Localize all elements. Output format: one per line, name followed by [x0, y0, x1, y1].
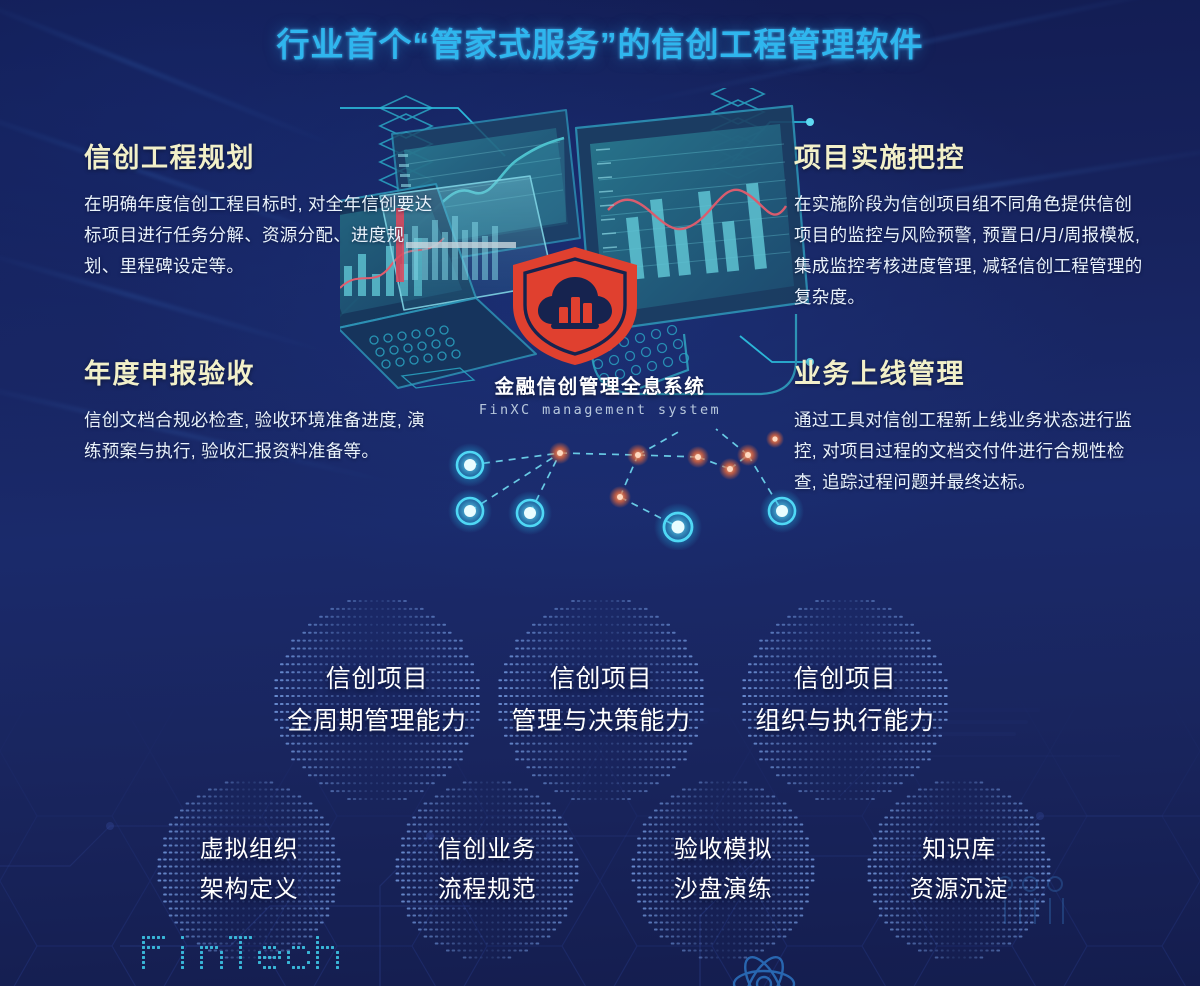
capability-line-2: 资源沉淀 — [910, 870, 1008, 910]
network-node — [654, 503, 702, 550]
capability-line-2: 管理与决策能力 — [511, 700, 690, 742]
capability-line-1: 信创项目 — [794, 658, 896, 700]
capability-line-1: 验收模拟 — [674, 830, 772, 870]
capability-line-1: 虚拟组织 — [200, 830, 298, 870]
page-title: 行业首个“管家式服务”的信创工程管理软件 — [0, 18, 1200, 66]
capability-line-1: 信创业务 — [438, 830, 536, 870]
capability-line-2: 全周期管理能力 — [287, 700, 466, 742]
center-caption-cn: 金融信创管理全息系统 — [390, 370, 810, 399]
capability-sphere-process-spec: 信创业务 流程规范 — [394, 777, 580, 963]
feature-annual-declaration-acceptance: 年度申报验收 信创文档合规必检查, 验收环境准备进度, 演练预案与执行, 验收汇… — [84, 352, 436, 467]
network-node — [448, 489, 492, 533]
capability-sphere-execution: 信创项目 组织与执行能力 — [740, 595, 950, 805]
capability-line-1: 知识库 — [922, 830, 996, 870]
feature-heading: 业务上线管理 — [794, 352, 1146, 391]
node-network — [430, 415, 850, 550]
capability-line-2: 组织与执行能力 — [755, 700, 934, 742]
feature-body: 信创文档合规必检查, 验收环境准备进度, 演练预案与执行, 验收汇报资料准备等。 — [84, 405, 436, 467]
feature-body: 通过工具对信创工程新上线业务状态进行监控, 对项目过程的文档交付件进行合规性检查… — [794, 405, 1146, 498]
network-node — [448, 443, 492, 487]
network-accent-node — [549, 430, 784, 508]
feature-heading: 年度申报验收 — [84, 352, 436, 391]
network-node — [508, 491, 552, 535]
feature-body: 在明确年度信创工程目标时, 对全年信创要达标项目进行任务分解、资源分配、进度规划… — [84, 189, 436, 282]
fintech-wordmark — [140, 930, 350, 986]
feature-heading: 项目实施把控 — [794, 136, 1146, 175]
capability-sphere-lifecycle: 信创项目 全周期管理能力 — [272, 595, 482, 805]
capability-line-1: 信创项目 — [550, 658, 652, 700]
capability-line-2: 架构定义 — [200, 870, 298, 910]
capability-sphere-decision: 信创项目 管理与决策能力 — [496, 595, 706, 805]
shield-cloud-chart-icon — [501, 243, 649, 368]
capability-line-1: 信创项目 — [326, 658, 428, 700]
feature-project-implementation-control: 项目实施把控 在实施阶段为信创项目组不同角色提供信创项目的监控与风险预警, 预置… — [794, 136, 1146, 313]
feature-business-launch-management: 业务上线管理 通过工具对信创工程新上线业务状态进行监控, 对项目过程的文档交付件… — [794, 352, 1146, 498]
capability-sphere-acceptance-drill: 验收模拟 沙盘演练 — [630, 777, 816, 963]
capability-sphere-knowledge-base: 知识库 资源沉淀 — [866, 777, 1052, 963]
infographic-canvas: 行业首个“管家式服务”的信创工程管理软件 — [0, 0, 1200, 986]
capability-line-2: 流程规范 — [438, 870, 536, 910]
center-system-caption: 金融信创管理全息系统 FinXC management system — [390, 370, 810, 418]
capability-line-2: 沙盘演练 — [674, 870, 772, 910]
atom-icon — [718, 940, 810, 986]
feature-body: 在实施阶段为信创项目组不同角色提供信创项目的监控与风险预警, 预置日/月/周报模… — [794, 189, 1146, 313]
feature-xinchuang-planning: 信创工程规划 在明确年度信创工程目标时, 对全年信创要达标项目进行任务分解、资源… — [84, 136, 436, 282]
feature-heading: 信创工程规划 — [84, 136, 436, 175]
